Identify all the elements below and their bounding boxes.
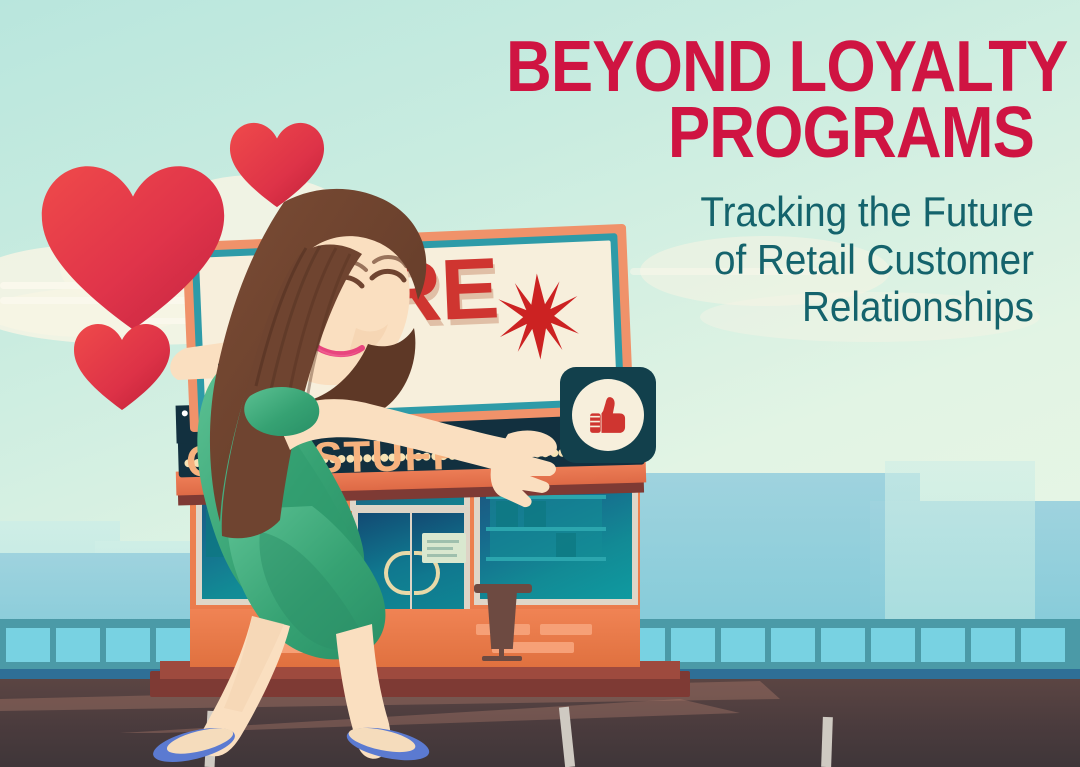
- subtitle-line-1: Tracking the Future: [482, 188, 1034, 235]
- page-subtitle: Tracking the Future of Retail Customer R…: [482, 188, 1034, 329]
- subtitle-line-3: Relationships: [482, 283, 1034, 330]
- subtitle-line-2: of Retail Customer: [482, 236, 1034, 283]
- page-title: BEYOND LOYALTY PROGRAMS: [506, 34, 1034, 166]
- title-line-2: PROGRAMS: [506, 100, 1034, 166]
- headline-block: BEYOND LOYALTY PROGRAMS Tracking the Fut…: [434, 34, 1034, 330]
- poster-canvas: OD & STUFF TORE TORE: [0, 0, 1080, 767]
